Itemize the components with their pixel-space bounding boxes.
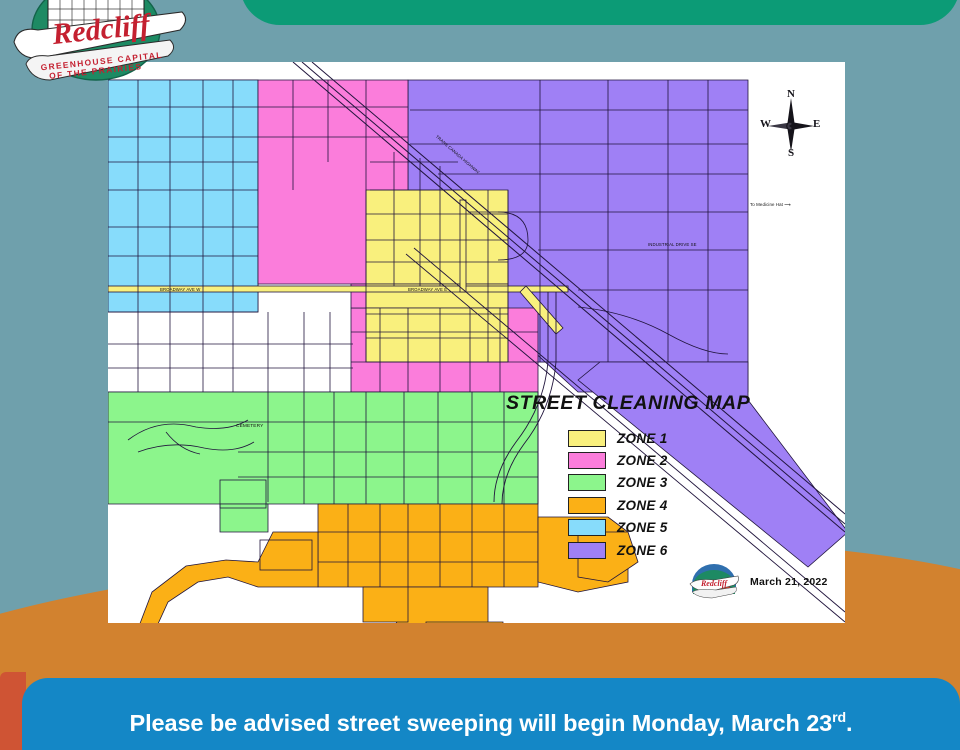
legend-row-zone-5[interactable]: ZONE 5 [568,517,736,539]
legend-label-zone-4: ZONE 4 [617,498,668,513]
legend-row-zone-2[interactable]: ZONE 2 [568,449,736,471]
compass-south: S [788,147,794,159]
redcliff-mini-logo-icon: Redcliff [688,562,740,602]
street-label-cemetery: CEMETERY [236,424,263,429]
legend-swatch-zone-4 [568,497,606,514]
map-datestamp: Redcliff March 21, 2022 [688,562,828,602]
redcliff-logo-svg: Redcliff GREENHOUSE CAPITAL OF THE PRAIR… [4,0,200,92]
to-medicine-hat-label: To Medicine Hat ⟶ [750,202,791,208]
zone-5-area [108,80,260,312]
legend-row-zone-4[interactable]: ZONE 4 [568,494,736,516]
legend-row-zone-3[interactable]: ZONE 3 [568,472,736,494]
redcliff-logo: Redcliff GREENHOUSE CAPITAL OF THE PRAIR… [4,0,200,92]
map-legend: STREET CLEANING MAP ZONE 1 ZONE 2 ZONE 3… [506,392,736,561]
legend-swatch-zone-2 [568,452,606,469]
notice-line-1-text: Please be advised street sweeping will b… [130,710,833,736]
map-card: BROADWAY AVE W BROADWAY AVE E TRANS CANA… [108,62,845,623]
legend-swatch-zone-5 [568,519,606,536]
compass-west: W [760,118,771,130]
legend-swatch-zone-1 [568,430,606,447]
legend-swatch-zone-6 [568,542,606,559]
street-label-broadway-w: BROADWAY AVE W [160,287,200,292]
legend-title: STREET CLEANING MAP [506,392,736,415]
legend-label-zone-3: ZONE 3 [617,475,668,490]
notice-line-1: Please be advised street sweeping will b… [56,696,926,744]
legend-label-zone-2: ZONE 2 [617,453,668,468]
legend-label-zone-6: ZONE 6 [617,543,668,558]
legend-rows: ZONE 1 ZONE 2 ZONE 3 ZONE 4 ZONE 5 ZONE … [568,427,736,561]
legend-label-zone-1: ZONE 1 [617,431,668,446]
notice-line-1-period: . [846,710,852,736]
street-label-industrial: INDUSTRIAL DRIVE SE [648,242,697,247]
compass-rose: N S W E [760,90,822,162]
legend-row-zone-6[interactable]: ZONE 6 [568,539,736,561]
bottom-notice-banner: Please be advised street sweeping will b… [22,678,960,750]
top-green-banner [240,0,960,25]
legend-swatch-zone-3 [568,474,606,491]
zone-1-area [366,190,508,362]
street-label-broadway-e: BROADWAY AVE E [408,287,447,292]
to-medicine-hat-text: To Medicine Hat [750,202,783,207]
svg-text:Redcliff: Redcliff [700,579,728,588]
compass-east: E [813,118,820,130]
legend-row-zone-1[interactable]: ZONE 1 [568,427,736,449]
notice-line-2: Residents are asked to watch for “No Par… [56,744,926,750]
map-date-text: March 21, 2022 [750,576,828,588]
legend-label-zone-5: ZONE 5 [617,520,668,535]
notice-ordinal: rd [832,709,846,725]
compass-north: N [787,88,795,100]
